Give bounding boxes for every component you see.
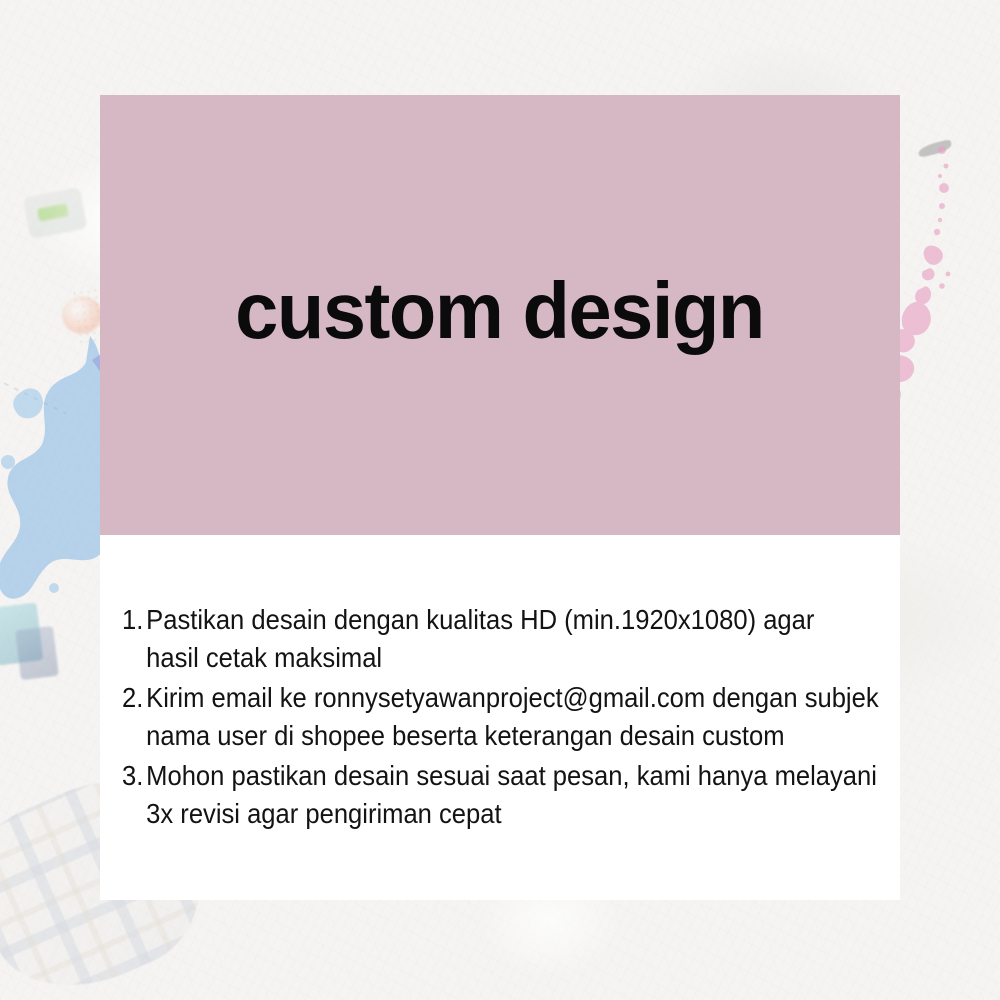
list-item-text: Kirim email ke ronnysetyawanproject@gmai…	[146, 679, 878, 756]
list-item-line: Mohon pastikan desain sesuai saat pesan,…	[146, 757, 877, 796]
list-item-marker: 2.	[122, 679, 146, 718]
list-item-line: Pastikan desain dengan kualitas HD (min.…	[146, 601, 838, 640]
list-item-marker: 1.	[122, 601, 146, 640]
list-item: 1. Pastikan desain dengan kualitas HD (m…	[122, 601, 838, 678]
hero-banner: custom design	[100, 95, 900, 535]
orange-blob-decoration	[62, 296, 102, 334]
list-item-line: Kirim email ke ronnysetyawanproject@gmai…	[146, 679, 878, 718]
grey-swoosh-decoration	[917, 139, 953, 158]
blue-grey-card-decoration	[15, 626, 59, 680]
sticky-note-green-stripe	[37, 203, 69, 221]
list-item: 2. Kirim email ke ronnysetyawanproject@g…	[122, 679, 838, 756]
list-item-text: Mohon pastikan desain sesuai saat pesan,…	[146, 757, 877, 834]
list-item: 3. Mohon pastikan desain sesuai saat pes…	[122, 757, 838, 834]
instructions-list: 1. Pastikan desain dengan kualitas HD (m…	[100, 601, 900, 835]
list-item-line: 3x revisi agar pengiriman cepat	[146, 795, 877, 834]
instructions-card: 1. Pastikan desain dengan kualitas HD (m…	[100, 535, 900, 900]
page-title: custom design	[236, 271, 765, 351]
dashed-line-decoration	[0, 378, 66, 415]
teal-card-decoration	[0, 602, 43, 665]
list-item-marker: 3.	[122, 757, 146, 796]
sticky-note-green-icon	[23, 187, 88, 239]
list-item-line: nama user di shopee beserta keterangan d…	[146, 717, 878, 756]
pink-paint-splash	[890, 120, 1000, 450]
list-item-text: Pastikan desain dengan kualitas HD (min.…	[146, 601, 838, 678]
poster-composition: custom design 1. Pastikan desain dengan …	[100, 95, 900, 900]
poster-canvas: custom design 1. Pastikan desain dengan …	[0, 0, 1000, 1000]
list-item-line: hasil cetak maksimal	[146, 639, 838, 678]
